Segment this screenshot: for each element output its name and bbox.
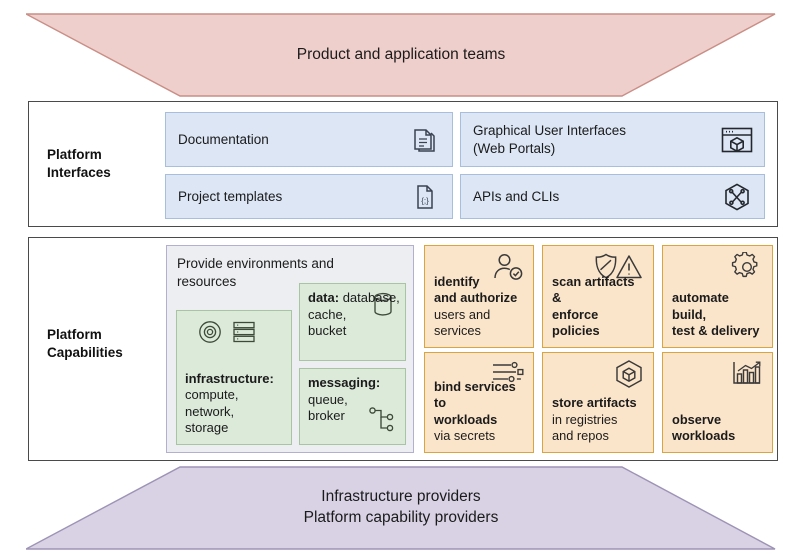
- resource-tile-data-heading: data:: [308, 290, 339, 305]
- bar-chart-trend-icon: [731, 359, 763, 387]
- gear-icon: [731, 252, 763, 282]
- resource-tile-infrastructure[interactable]: infrastructure: compute, network, storag…: [176, 310, 292, 445]
- template-file-icon: {;}: [408, 180, 442, 214]
- diagram-canvas: Product and application teams Platform I…: [0, 0, 800, 555]
- resource-tile-messaging-heading: messaging:: [308, 375, 380, 390]
- platform-interfaces-title-line2: Interfaces: [47, 164, 167, 182]
- interface-tile-apis-and-clis[interactable]: APIs and CLIs: [460, 174, 765, 219]
- hexagon-tools-icon: [720, 180, 754, 214]
- server-stack-icon: [231, 319, 257, 345]
- capability-tile-bind-services-sub: via secrets: [434, 428, 524, 445]
- capability-tile-store-artifacts[interactable]: store artifacts in registries and repos: [542, 352, 654, 453]
- resource-tile-messaging[interactable]: messaging: queue, broker: [299, 368, 406, 445]
- platform-capabilities-title-line2: Capabilities: [47, 344, 167, 362]
- capability-tile-automate-build-heading: automate build, test & delivery: [672, 290, 763, 340]
- capability-tile-store-artifacts-text: store artifacts in registries and repos: [552, 395, 644, 445]
- capability-tile-scan-artifacts[interactable]: scan artifacts & enforce policies: [542, 245, 654, 348]
- providers-band-line1: Infrastructure providers: [304, 487, 499, 508]
- resource-tile-messaging-body: queue, broker: [308, 392, 348, 424]
- providers-band-line2: Platform capability providers: [304, 508, 499, 529]
- svg-text:{;}: {;}: [421, 196, 429, 205]
- capability-tile-scan-artifacts-heading: scan artifacts & enforce policies: [552, 274, 644, 341]
- platform-capabilities-title: Platform Capabilities: [47, 326, 167, 362]
- infrastructure-icons: [197, 319, 257, 345]
- browser-window-cube-icon: [720, 123, 754, 157]
- capability-tile-bind-services-text: bind services to workloads via secrets: [434, 379, 524, 446]
- capability-tile-observe-workloads-text: observe workloads: [672, 412, 763, 445]
- capability-tile-scan-artifacts-text: scan artifacts & enforce policies: [552, 274, 644, 341]
- product-and-application-teams-band: Product and application teams: [26, 13, 776, 97]
- platform-interfaces-title: Platform Interfaces: [47, 146, 167, 182]
- resource-tile-infrastructure-heading: infrastructure:: [185, 371, 274, 386]
- disc-icon: [197, 319, 223, 345]
- interface-tile-apis-and-clis-label: APIs and CLIs: [473, 188, 720, 206]
- capability-tile-automate-build[interactable]: automate build, test & delivery: [662, 245, 773, 348]
- resource-tile-data-text: data: database, cache, bucket: [308, 290, 400, 340]
- capability-tile-automate-build-text: automate build, test & delivery: [672, 290, 763, 340]
- resource-tile-infrastructure-text: infrastructure: compute, network, storag…: [185, 371, 291, 438]
- interface-tile-documentation[interactable]: Documentation: [165, 112, 453, 167]
- platform-interfaces-title-line1: Platform: [47, 146, 167, 164]
- capability-tile-store-artifacts-heading: store artifacts: [552, 395, 644, 412]
- capability-tile-store-artifacts-sub: in registries and repos: [552, 412, 644, 445]
- top-band-label: Product and application teams: [297, 45, 506, 66]
- platform-capabilities-title-line1: Platform: [47, 326, 167, 344]
- capability-tile-identify-and-authorize[interactable]: identify and authorize users and service…: [424, 245, 534, 348]
- capability-tile-bind-services[interactable]: bind services to workloads via secrets: [424, 352, 534, 453]
- capability-tile-bind-services-heading: bind services to workloads: [434, 379, 524, 429]
- capability-tile-identify-and-authorize-heading: identify and authorize: [434, 274, 524, 307]
- documents-icon: [408, 123, 442, 157]
- resource-tile-infrastructure-body: compute, network, storage: [185, 387, 238, 435]
- interface-tile-project-templates[interactable]: Project templates {;}: [165, 174, 453, 219]
- interface-tile-documentation-label: Documentation: [178, 131, 408, 149]
- providers-band: Infrastructure providers Platform capabi…: [26, 466, 776, 550]
- interface-tile-graphical-user-interfaces[interactable]: Graphical User Interfaces (Web Portals): [460, 112, 765, 167]
- capability-tile-identify-and-authorize-text: identify and authorize users and service…: [434, 274, 524, 341]
- capability-tile-observe-workloads[interactable]: observe workloads: [662, 352, 773, 453]
- capability-tile-observe-workloads-heading: observe workloads: [672, 412, 763, 445]
- resource-tile-data[interactable]: data: database, cache, bucket: [299, 283, 406, 361]
- capability-tile-identify-and-authorize-sub: users and services: [434, 307, 524, 340]
- cube-package-icon: [614, 359, 644, 389]
- resource-tile-messaging-text: messaging: queue, broker: [308, 375, 405, 425]
- interface-tile-graphical-user-interfaces-label: Graphical User Interfaces (Web Portals): [473, 122, 720, 157]
- interface-tile-project-templates-label: Project templates: [178, 188, 408, 206]
- providers-band-label: Infrastructure providers Platform capabi…: [304, 487, 499, 529]
